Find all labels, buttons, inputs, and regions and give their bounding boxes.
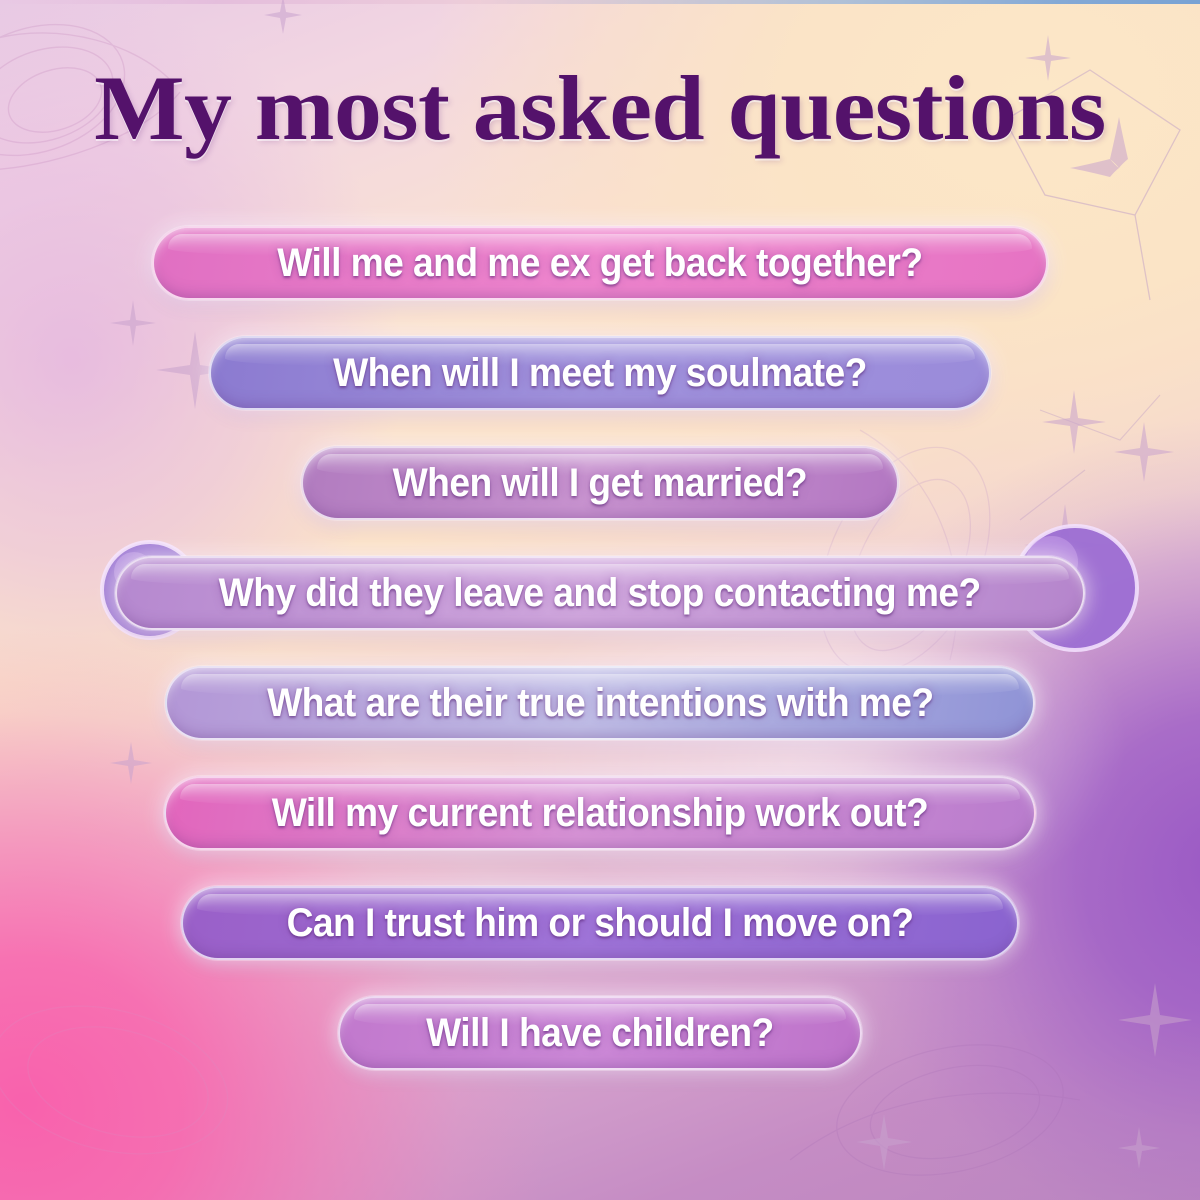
question-row-7: Can I trust him or should I move on?	[0, 886, 1200, 996]
question-label-2: When will I meet my soulmate?	[333, 353, 867, 393]
question-row-1: Will me and me ex get back together?	[0, 226, 1200, 336]
question-pill-1[interactable]: Will me and me ex get back together?	[152, 226, 1048, 300]
question-pill-6[interactable]: Will my current relationship work out?	[164, 776, 1036, 850]
question-list: Will me and me ex get back together? Whe…	[0, 226, 1200, 1106]
question-pill-7[interactable]: Can I trust him or should I move on?	[181, 886, 1019, 960]
question-row-4: Why did they leave and stop contacting m…	[0, 556, 1200, 666]
question-pill-8[interactable]: Will I have children?	[338, 996, 862, 1070]
question-label-6: Will my current relationship work out?	[272, 793, 928, 833]
top-edge-blue-line	[0, 0, 1200, 4]
question-row-2: When will I meet my soulmate?	[0, 336, 1200, 446]
question-pill-2[interactable]: When will I meet my soulmate?	[209, 336, 991, 410]
question-label-3: When will I get married?	[393, 463, 807, 503]
question-pill-5[interactable]: What are their true intentions with me?	[165, 666, 1035, 740]
question-label-5: What are their true intentions with me?	[267, 683, 934, 723]
question-row-6: Will my current relationship work out?	[0, 776, 1200, 886]
question-row-5: What are their true intentions with me?	[0, 666, 1200, 776]
poster-canvas: My most asked questions Will me and me e…	[0, 0, 1200, 1200]
question-pill-4[interactable]: Why did they leave and stop contacting m…	[115, 556, 1085, 630]
question-row-3: When will I get married?	[0, 446, 1200, 556]
question-pill-3[interactable]: When will I get married?	[301, 446, 899, 520]
question-label-7: Can I trust him or should I move on?	[287, 903, 914, 943]
question-label-4: Why did they leave and stop contacting m…	[219, 573, 981, 613]
question-label-8: Will I have children?	[426, 1013, 774, 1053]
page-title: My most asked questions	[0, 62, 1200, 154]
question-row-8: Will I have children?	[0, 996, 1200, 1106]
question-label-1: Will me and me ex get back together?	[277, 243, 922, 283]
